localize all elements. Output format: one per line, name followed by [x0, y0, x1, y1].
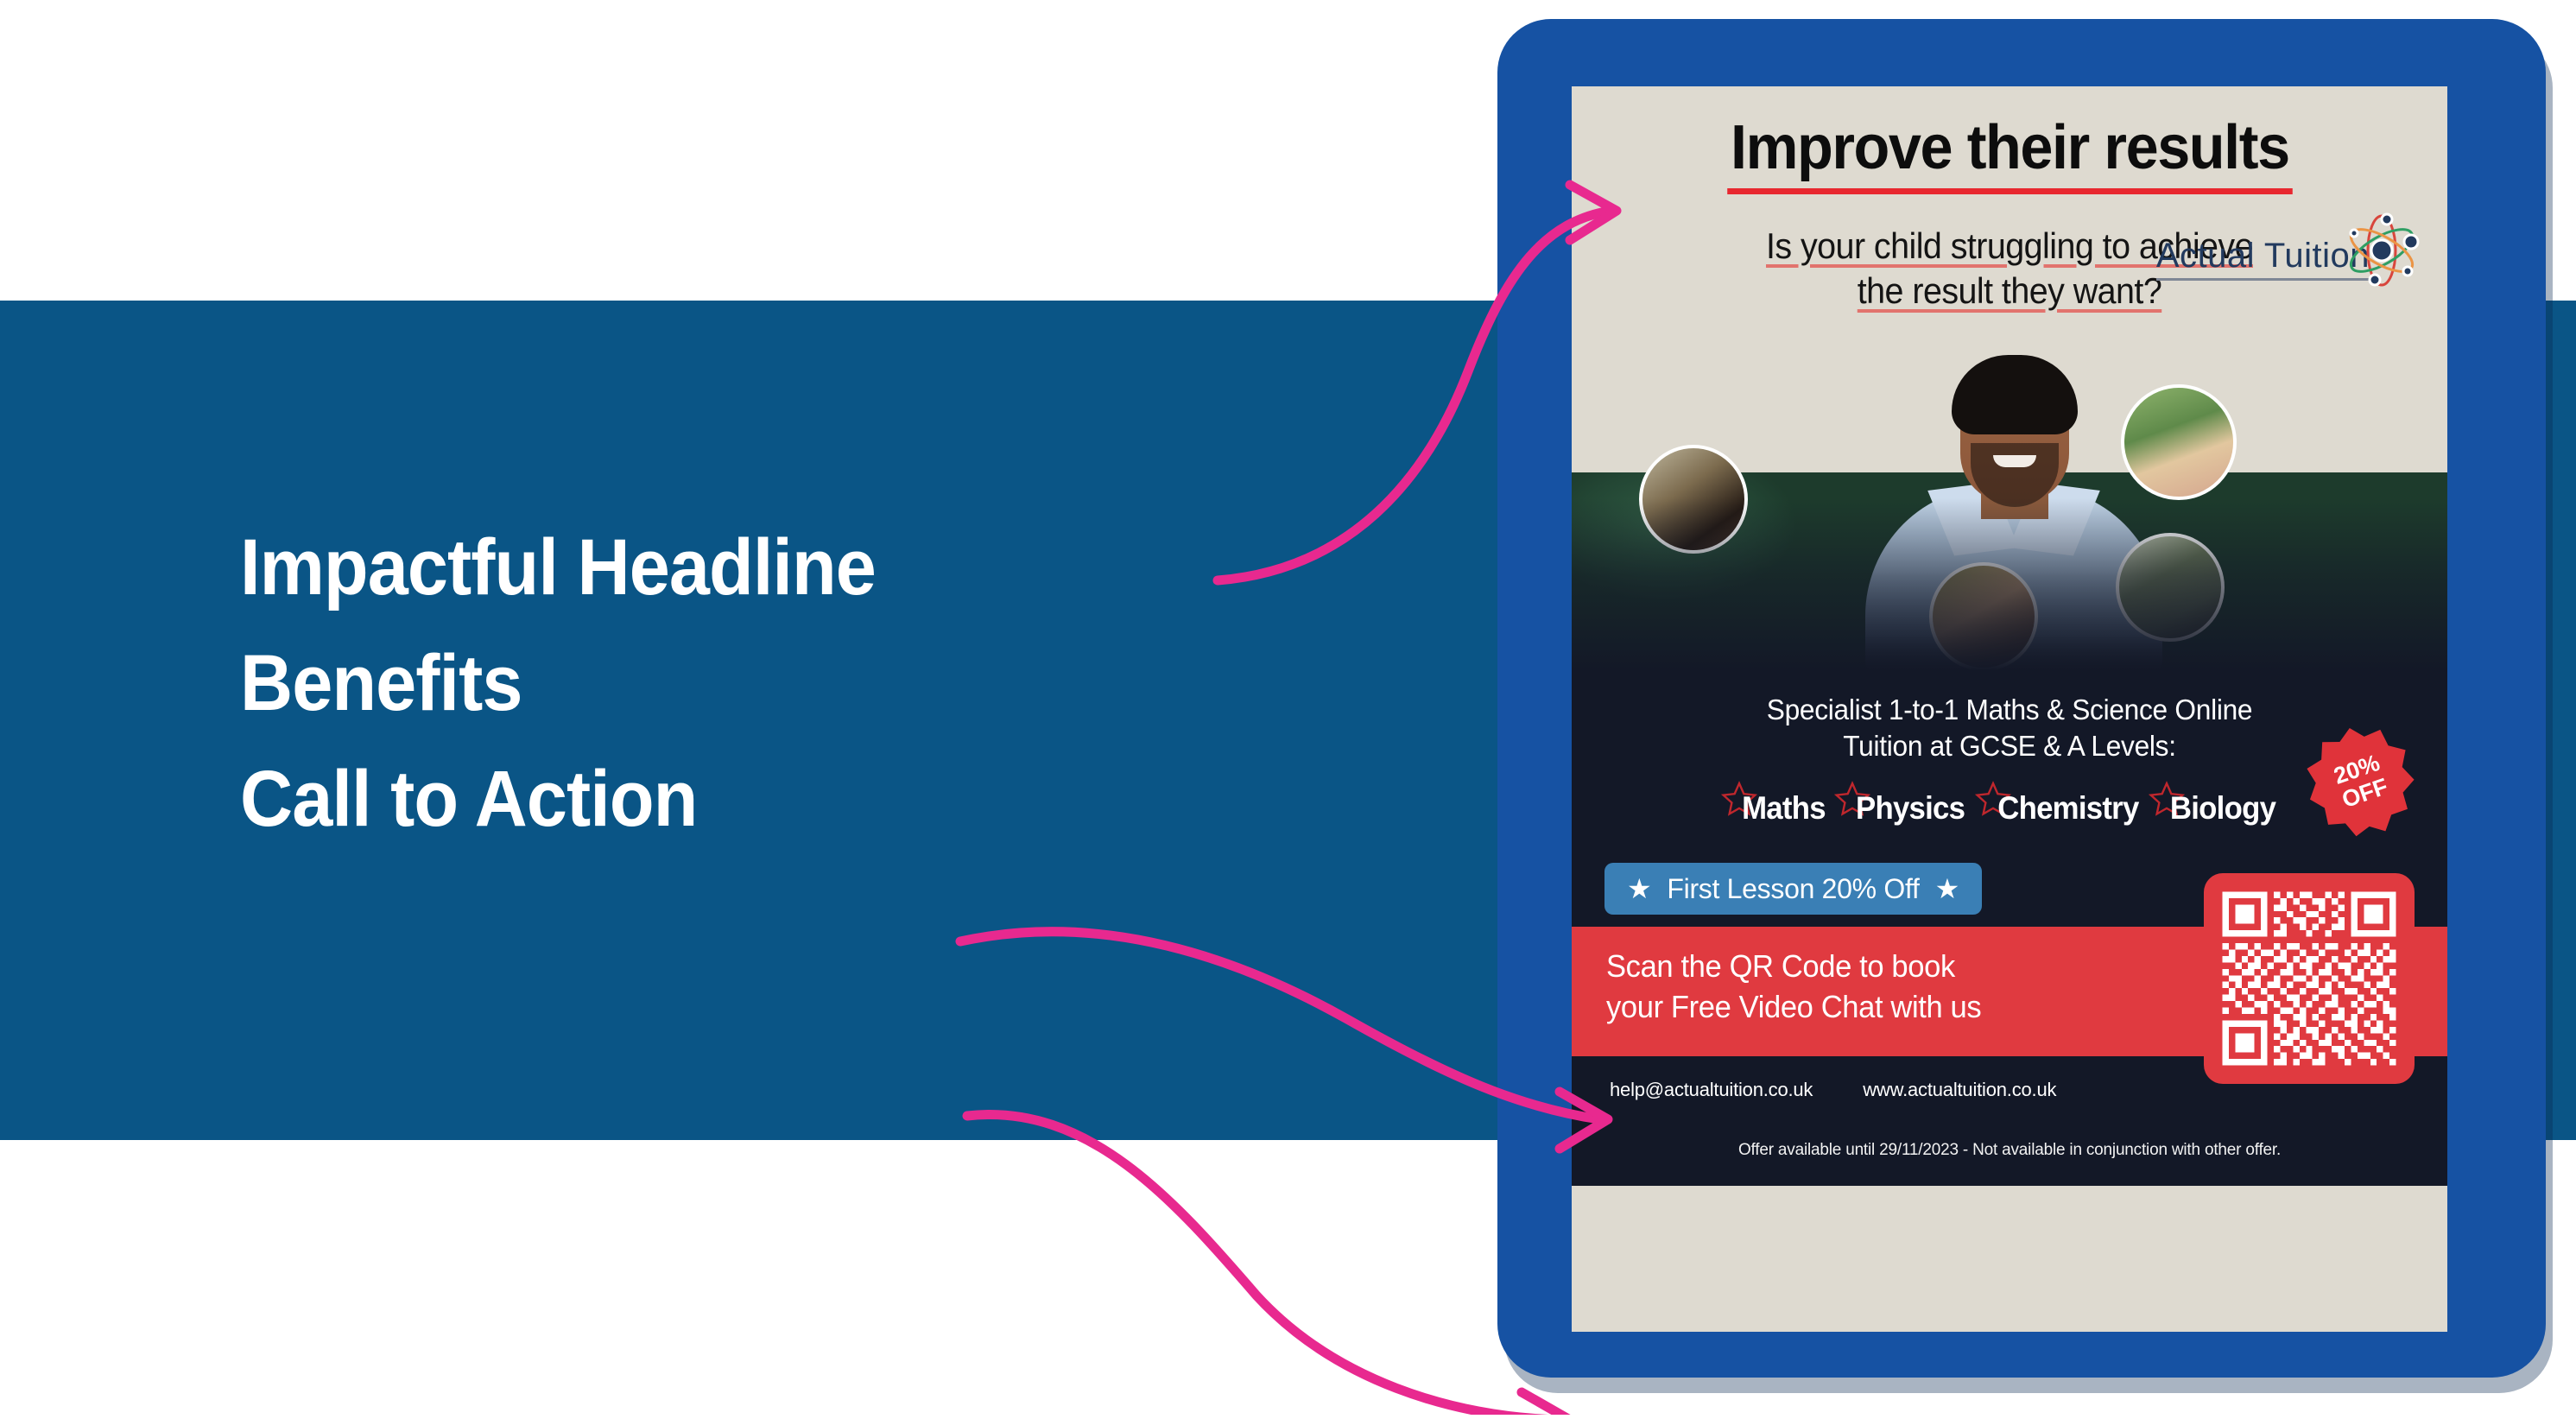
hero-gradient-fade [1572, 498, 2447, 671]
annotation-label-list: Impactful Headline Benefits Call to Acti… [240, 514, 931, 852]
discount-badge: 20% OFF [2294, 714, 2429, 850]
subject-label: Chemistry [1997, 790, 2138, 827]
poster-screen: Improve their results Is your child stru… [1572, 86, 2447, 1332]
subject-label: Physics [1856, 790, 1965, 827]
arrow-path-cta [967, 1114, 1559, 1415]
tutor-hair [1952, 355, 2078, 434]
subject-item-physics: Physics [1852, 790, 1968, 827]
annotation-label-call-to-action: Call to Action [240, 745, 876, 852]
arrow-head-cta [1522, 1392, 1570, 1415]
tutor-smile [1993, 455, 2036, 467]
annotation-label-impactful-headline: Impactful Headline [240, 514, 876, 621]
services-line-1: Specialist 1-to-1 Maths & Science Online [1589, 692, 2429, 728]
qr-code[interactable] [2204, 873, 2415, 1084]
cta-line-1: Scan the QR Code to book [1606, 946, 2120, 986]
atom-icon [2340, 209, 2423, 296]
hero-photo: 20% OFF [1572, 334, 2447, 671]
star-icon-left: ★ [1627, 872, 1651, 905]
student-avatar [2121, 384, 2237, 500]
subject-item-biology: Biology [2167, 790, 2279, 827]
brand-logo: Actual Tuition [2156, 209, 2423, 308]
cta-band: Scan the QR Code to book your Free Video… [1572, 927, 2447, 1056]
subject-item-maths: Maths [1739, 790, 1828, 827]
subject-label: Biology [2170, 790, 2275, 827]
offer-disclaimer: Offer available until 29/11/2023 - Not a… [1572, 1101, 2447, 1186]
page-title: Improve their results [1727, 112, 2292, 194]
subject-item-chemistry: Chemistry [1993, 790, 2143, 827]
offer-label: First Lesson 20% Off [1667, 873, 1919, 905]
star-icon-right: ★ [1935, 872, 1959, 905]
contact-email[interactable]: help@actualtuition.co.uk [1610, 1079, 1813, 1101]
cta-line-2: your Free Video Chat with us [1606, 986, 2120, 1027]
annotation-label-benefits: Benefits [240, 630, 876, 737]
subject-label: Maths [1743, 790, 1826, 827]
contact-website[interactable]: www.actualtuition.co.uk [1863, 1079, 2056, 1101]
cta-text: Scan the QR Code to book your Free Video… [1606, 946, 2120, 1027]
first-lesson-offer-button[interactable]: ★ First Lesson 20% Off ★ [1604, 863, 1982, 915]
